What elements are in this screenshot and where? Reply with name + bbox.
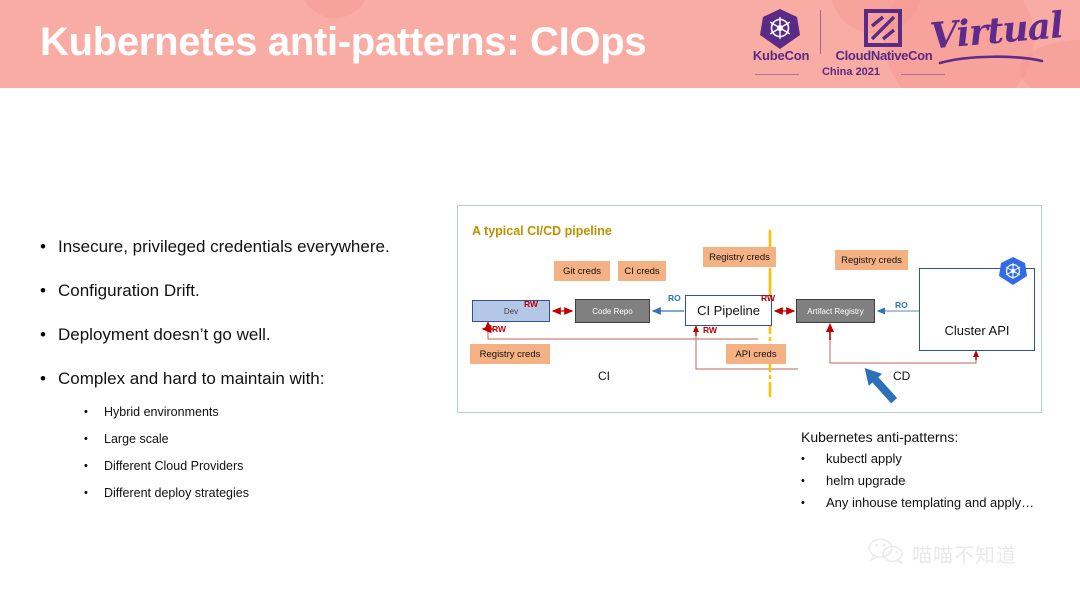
list-item: • Configuration Drift. [40, 280, 440, 302]
cicd-pipeline-diagram: A typical CI/CD pipeline [457, 205, 1042, 413]
bullet-text: Complex and hard to maintain with: [58, 368, 324, 390]
bullet-glyph: • [801, 493, 826, 513]
antipattern-text: Any inhouse templating and apply… [826, 493, 1034, 513]
bullet-glyph: • [40, 368, 58, 390]
cred-registry-right-label: Registry creds [841, 255, 902, 266]
edition-rule-left [755, 74, 799, 75]
node-cluster-api-label: Cluster API [944, 323, 1009, 338]
cred-box-registry-left: Registry creds [470, 344, 550, 364]
sub-bullet-list: • Hybrid environments • Large scale • Di… [84, 404, 440, 502]
virtual-label: Virtual [928, 4, 1061, 57]
cred-ci-label: CI creds [624, 266, 659, 277]
bullet-glyph: • [84, 431, 104, 448]
node-ci-pipeline-label: CI Pipeline [697, 303, 760, 318]
cred-box-git: Git creds [554, 261, 610, 281]
bullet-glyph: • [801, 471, 826, 491]
sub-bullet-text: Hybrid environments [104, 404, 219, 421]
access-label-ci-rw: RW [761, 293, 775, 303]
cred-api-label: API creds [735, 349, 776, 360]
node-code-repo: Code Repo [575, 299, 650, 323]
antipattern-text: helm upgrade [826, 471, 906, 491]
node-artifact-registry: Artifact Registry [796, 299, 875, 323]
access-label-dev-up-rw: RW [492, 324, 506, 334]
page-title: Kubernetes anti-patterns: CIOps [40, 20, 646, 65]
cloudnativecon-icon [863, 8, 903, 48]
list-item: • Hybrid environments [84, 404, 440, 421]
edition-label: China 2021 [803, 66, 899, 78]
list-item: • Insecure, privileged credentials every… [40, 236, 440, 258]
access-label-repo-ro: RO [668, 293, 681, 303]
access-label-cluster-ro: RO [895, 300, 908, 310]
list-item: • Different Cloud Providers [84, 458, 440, 475]
bullet-glyph: • [40, 236, 58, 258]
access-label-dev-rw: RW [524, 299, 538, 309]
antipattern-text: kubectl apply [826, 449, 902, 469]
cred-registry-middle-label: Registry creds [709, 252, 770, 263]
antipatterns-callout: Kubernetes anti-patterns: • kubectl appl… [801, 429, 1071, 515]
bullet-text: Insecure, privileged credentials everywh… [58, 236, 390, 258]
list-item: • kubectl apply [801, 449, 1071, 469]
kubecon-helm-icon [759, 8, 801, 50]
bullet-glyph: • [40, 280, 58, 302]
node-code-repo-label: Code Repo [592, 307, 632, 316]
stage-label-cd: CD [893, 369, 910, 383]
cred-box-registry-right: Registry creds [835, 250, 908, 270]
edition-rule-right [901, 74, 945, 75]
watermark-text: 喵喵不知道 [912, 539, 1017, 568]
node-dev: Dev [472, 300, 550, 322]
stage-label-ci: CI [598, 369, 610, 383]
node-dev-label: Dev [504, 307, 518, 316]
bullet-text: Deployment doesn’t go well. [58, 324, 271, 346]
list-item: • Any inhouse templating and apply… [801, 493, 1071, 513]
access-label-ci-up-rw: RW [703, 325, 717, 335]
wechat-icon [866, 537, 906, 570]
list-item: • Complex and hard to maintain with: [40, 368, 440, 390]
bullet-glyph: • [801, 449, 826, 469]
list-item: • Different deploy strategies [84, 485, 440, 502]
antipatterns-title: Kubernetes anti-patterns: [801, 429, 1071, 445]
bullet-glyph: • [84, 458, 104, 475]
cred-registry-left-label: Registry creds [480, 349, 541, 360]
cred-box-registry-middle: Registry creds [703, 247, 776, 267]
logo-divider [820, 10, 821, 54]
bullet-glyph: • [84, 404, 104, 421]
cred-box-ci: CI creds [618, 261, 666, 281]
bullet-glyph: • [40, 324, 58, 346]
bullet-glyph: • [84, 485, 104, 502]
virtual-underline-swoosh [938, 54, 1048, 68]
sub-bullet-text: Large scale [104, 431, 169, 448]
kubernetes-icon [998, 256, 1028, 286]
node-ci-pipeline: CI Pipeline [685, 295, 772, 326]
sub-bullet-text: Different Cloud Providers [104, 458, 243, 475]
edition-row: China 2021 [755, 66, 955, 82]
conference-logo-group: KubeCon CloudNativeCon China 2021 [735, 4, 935, 84]
cloudnativecon-label: CloudNativeCon [823, 48, 945, 63]
bullet-list: • Insecure, privileged credentials every… [40, 236, 440, 512]
bullet-text: Configuration Drift. [58, 280, 200, 302]
sub-bullet-text: Different deploy strategies [104, 485, 249, 502]
node-artifact-registry-label: Artifact Registry [807, 307, 863, 316]
virtual-logo: Virtual [930, 10, 1060, 68]
slide-header: Kubernetes anti-patterns: CIOps [0, 0, 1080, 88]
header-blob-decoration [300, 0, 370, 18]
cred-box-api: API creds [726, 344, 786, 364]
list-item: • Large scale [84, 431, 440, 448]
watermark: 喵喵不知道 [866, 537, 1017, 570]
list-item: • helm upgrade [801, 471, 1071, 491]
kubecon-label: KubeCon [743, 48, 819, 63]
cred-git-label: Git creds [563, 266, 601, 277]
list-item: • Deployment doesn’t go well. [40, 324, 440, 346]
